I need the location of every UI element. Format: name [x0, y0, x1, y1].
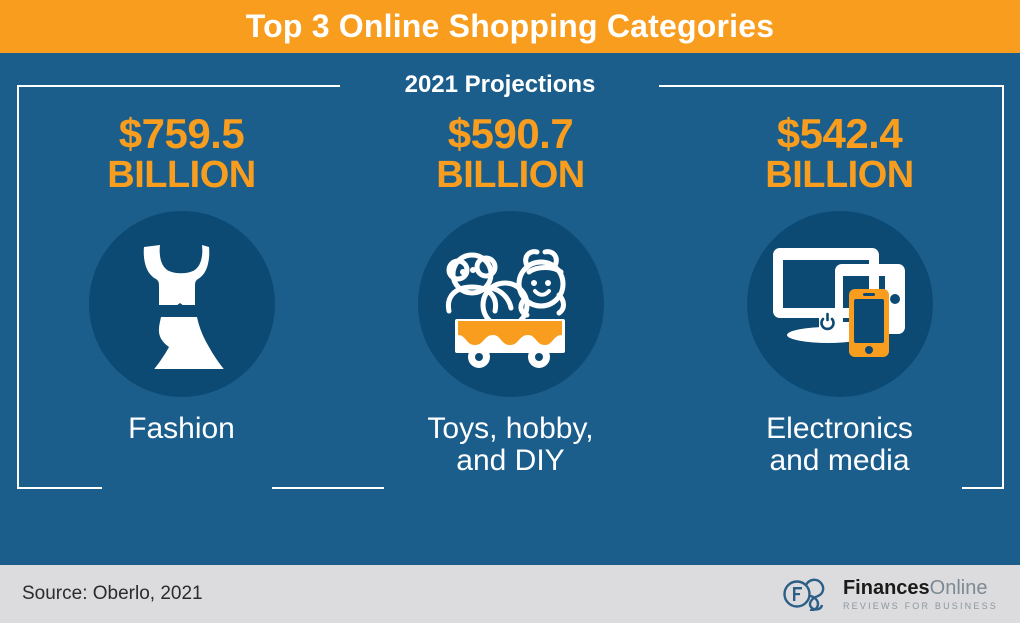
- footer-bar: Source: Oberlo, 2021 FinancesOnline: [0, 565, 1020, 623]
- logo-name-light: Online: [930, 577, 988, 599]
- frame-top-left-rule: [17, 85, 340, 87]
- header-bar: Top 3 Online Shopping Categories: [0, 0, 1020, 53]
- category-columns: $759.5 BILLION Fashion $590.7: [17, 113, 1004, 563]
- icon-circle-toys: [418, 211, 604, 397]
- amount-number: $590.7: [436, 113, 584, 156]
- subtitle: 2021 Projections: [340, 71, 660, 99]
- category-column-toys: $590.7 BILLION: [346, 113, 675, 563]
- amount-unit: BILLION: [765, 156, 913, 195]
- category-label-fashion: Fashion: [128, 413, 235, 445]
- category-column-electronics: $542.4 BILLION: [675, 113, 1004, 563]
- cloud-f-logo-icon: [782, 577, 834, 611]
- amount-electronics: $542.4 BILLION: [765, 113, 913, 195]
- amount-unit: BILLION: [107, 156, 255, 195]
- financesonline-logo[interactable]: FinancesOnline REVIEWS FOR BUSINESS: [782, 577, 998, 611]
- category-column-fashion: $759.5 BILLION Fashion: [17, 113, 346, 563]
- toy-wagon-icon: [441, 239, 581, 369]
- logo-wordmark: FinancesOnline REVIEWS FOR BUSINESS: [843, 578, 998, 611]
- frame-top-right-rule: [659, 85, 1004, 87]
- amount-toys: $590.7 BILLION: [436, 113, 584, 195]
- amount-unit: BILLION: [436, 156, 584, 195]
- devices-icon: [769, 243, 911, 365]
- icon-circle-fashion: [89, 211, 275, 397]
- infographic: Top 3 Online Shopping Categories 2021 Pr…: [0, 0, 1020, 623]
- logo-tagline: REVIEWS FOR BUSINESS: [843, 602, 998, 611]
- source-text: Source: Oberlo, 2021: [22, 583, 203, 605]
- page-title: Top 3 Online Shopping Categories: [246, 8, 775, 45]
- icon-circle-electronics: [747, 211, 933, 397]
- category-label-electronics: Electronics and media: [766, 413, 913, 478]
- amount-number: $542.4: [765, 113, 913, 156]
- logo-name-bold: Finances: [843, 577, 930, 599]
- amount-number: $759.5: [107, 113, 255, 156]
- dress-icon: [120, 239, 244, 369]
- logo-name: FinancesOnline: [843, 578, 998, 598]
- content-area: 2021 Projections $759.5 BILLION Fashion: [0, 53, 1020, 565]
- amount-fashion: $759.5 BILLION: [107, 113, 255, 195]
- category-label-toys: Toys, hobby, and DIY: [427, 413, 593, 478]
